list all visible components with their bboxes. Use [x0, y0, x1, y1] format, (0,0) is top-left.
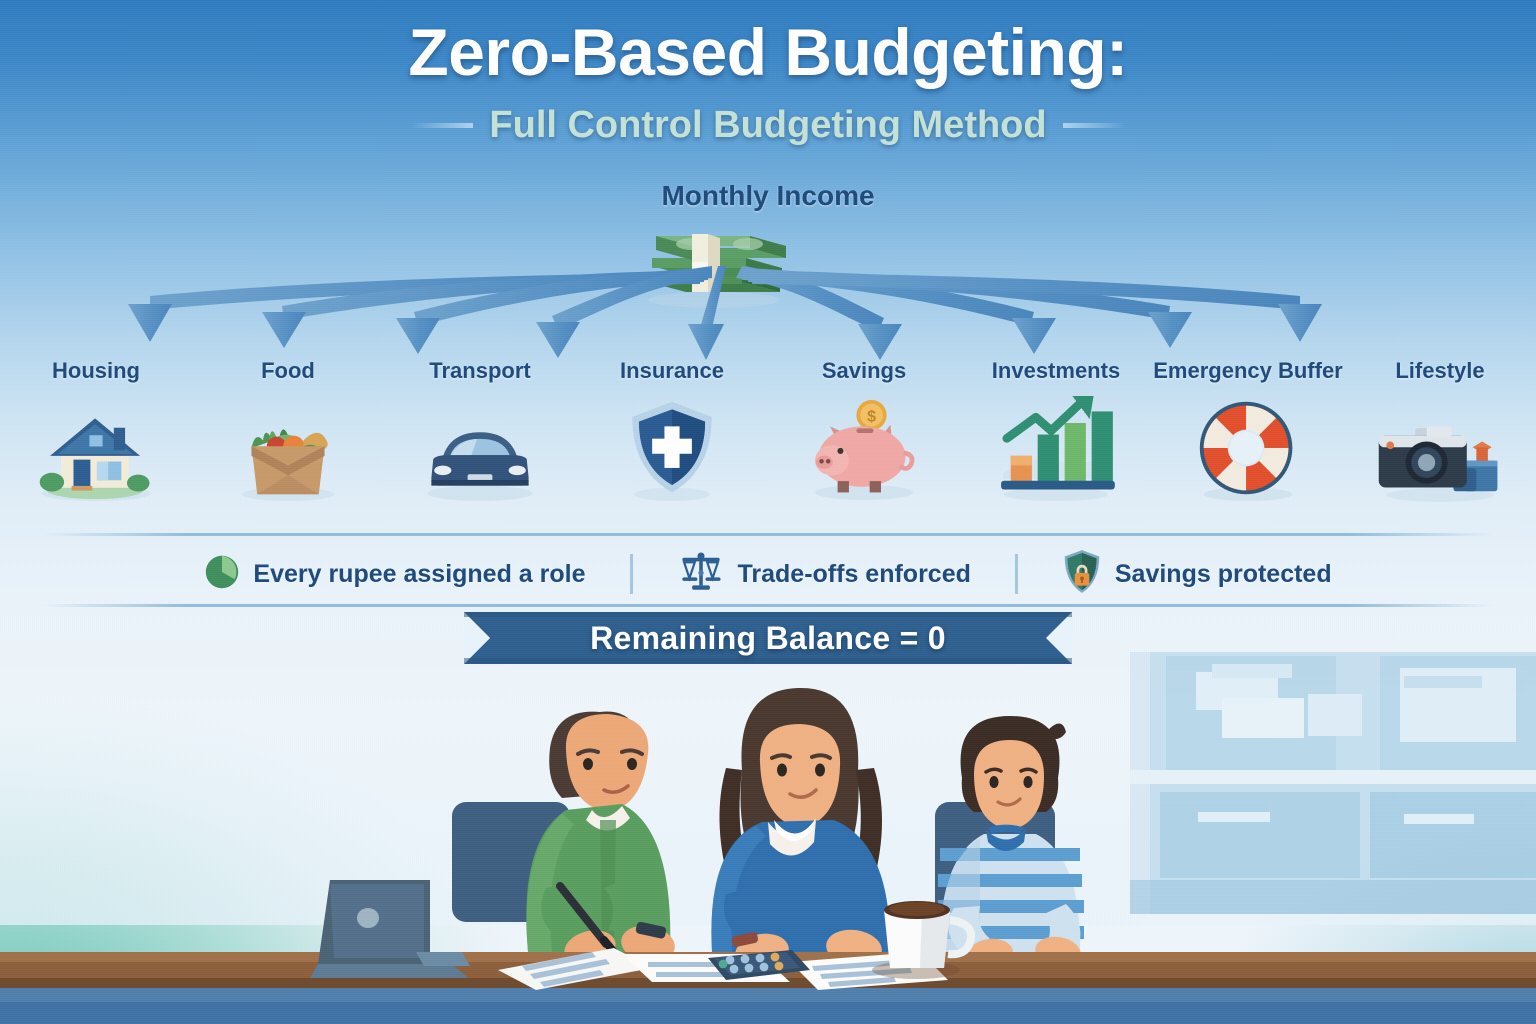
shield-cross-icon [576, 392, 768, 502]
category-label: Food [192, 358, 384, 384]
svg-text:$: $ [867, 408, 876, 426]
feature-savings-protected[interactable]: Savings protected [1062, 549, 1332, 600]
category-housing[interactable]: Housing [0, 358, 192, 518]
grocery-bag-icon [192, 392, 384, 502]
divider-bottom [42, 604, 1494, 607]
shield-lock-icon [1062, 549, 1102, 600]
shelf-background [1130, 652, 1536, 914]
category-label: Savings [768, 358, 960, 384]
budget-categories: Housing [0, 358, 1536, 518]
category-investments[interactable]: Investments [960, 358, 1152, 518]
feature-every-rupee-assigned[interactable]: Every rupee assigned a role [204, 554, 585, 595]
category-label: Investments [960, 358, 1152, 384]
divider-top [42, 533, 1494, 536]
growth-chart-icon [960, 392, 1152, 502]
category-savings[interactable]: Savings $ [768, 358, 960, 518]
feature-trade-offs-enforced[interactable]: Trade-offs enforced [677, 551, 971, 598]
feature-label: Trade-offs enforced [738, 560, 971, 589]
camera-icon [1344, 392, 1536, 502]
income-distribution-arrows [0, 216, 1536, 366]
decorative-dash-left [411, 123, 473, 128]
infographic-canvas: Zero-Based Budgeting: Full Control Budge… [0, 0, 1536, 1024]
page-subtitle: Full Control Budgeting Method [489, 104, 1046, 147]
pie-chart-icon [204, 554, 240, 595]
category-transport[interactable]: Transport [384, 358, 576, 518]
page-title: Zero-Based Budgeting: [0, 14, 1536, 90]
house-icon [0, 392, 192, 502]
category-insurance[interactable]: Insurance [576, 358, 768, 518]
category-label: Insurance [576, 358, 768, 384]
piggy-bank-icon: $ [768, 392, 960, 502]
category-label: Transport [384, 358, 576, 384]
feature-separator [1015, 554, 1018, 594]
decorative-dash-right [1063, 123, 1125, 128]
feature-separator [630, 554, 633, 594]
category-lifestyle[interactable]: Lifestyle [1344, 358, 1536, 518]
category-label: Emergency Buffer [1152, 358, 1344, 384]
family-budgeting-scene [0, 652, 1536, 1024]
category-label: Housing [0, 358, 192, 384]
scales-icon [677, 551, 725, 598]
car-icon [384, 392, 576, 502]
category-food[interactable]: Food [192, 358, 384, 518]
feature-list: Every rupee assigned a role Trade-offs e… [0, 546, 1536, 602]
subtitle-row: Full Control Budgeting Method [0, 104, 1536, 147]
category-emergency-buffer[interactable]: Emergency Buffer [1152, 358, 1344, 518]
feature-label: Every rupee assigned a role [253, 560, 585, 589]
category-label: Lifestyle [1344, 358, 1536, 384]
feature-label: Savings protected [1115, 560, 1332, 589]
monthly-income-label: Monthly Income [0, 180, 1536, 212]
life-ring-icon [1152, 392, 1344, 502]
